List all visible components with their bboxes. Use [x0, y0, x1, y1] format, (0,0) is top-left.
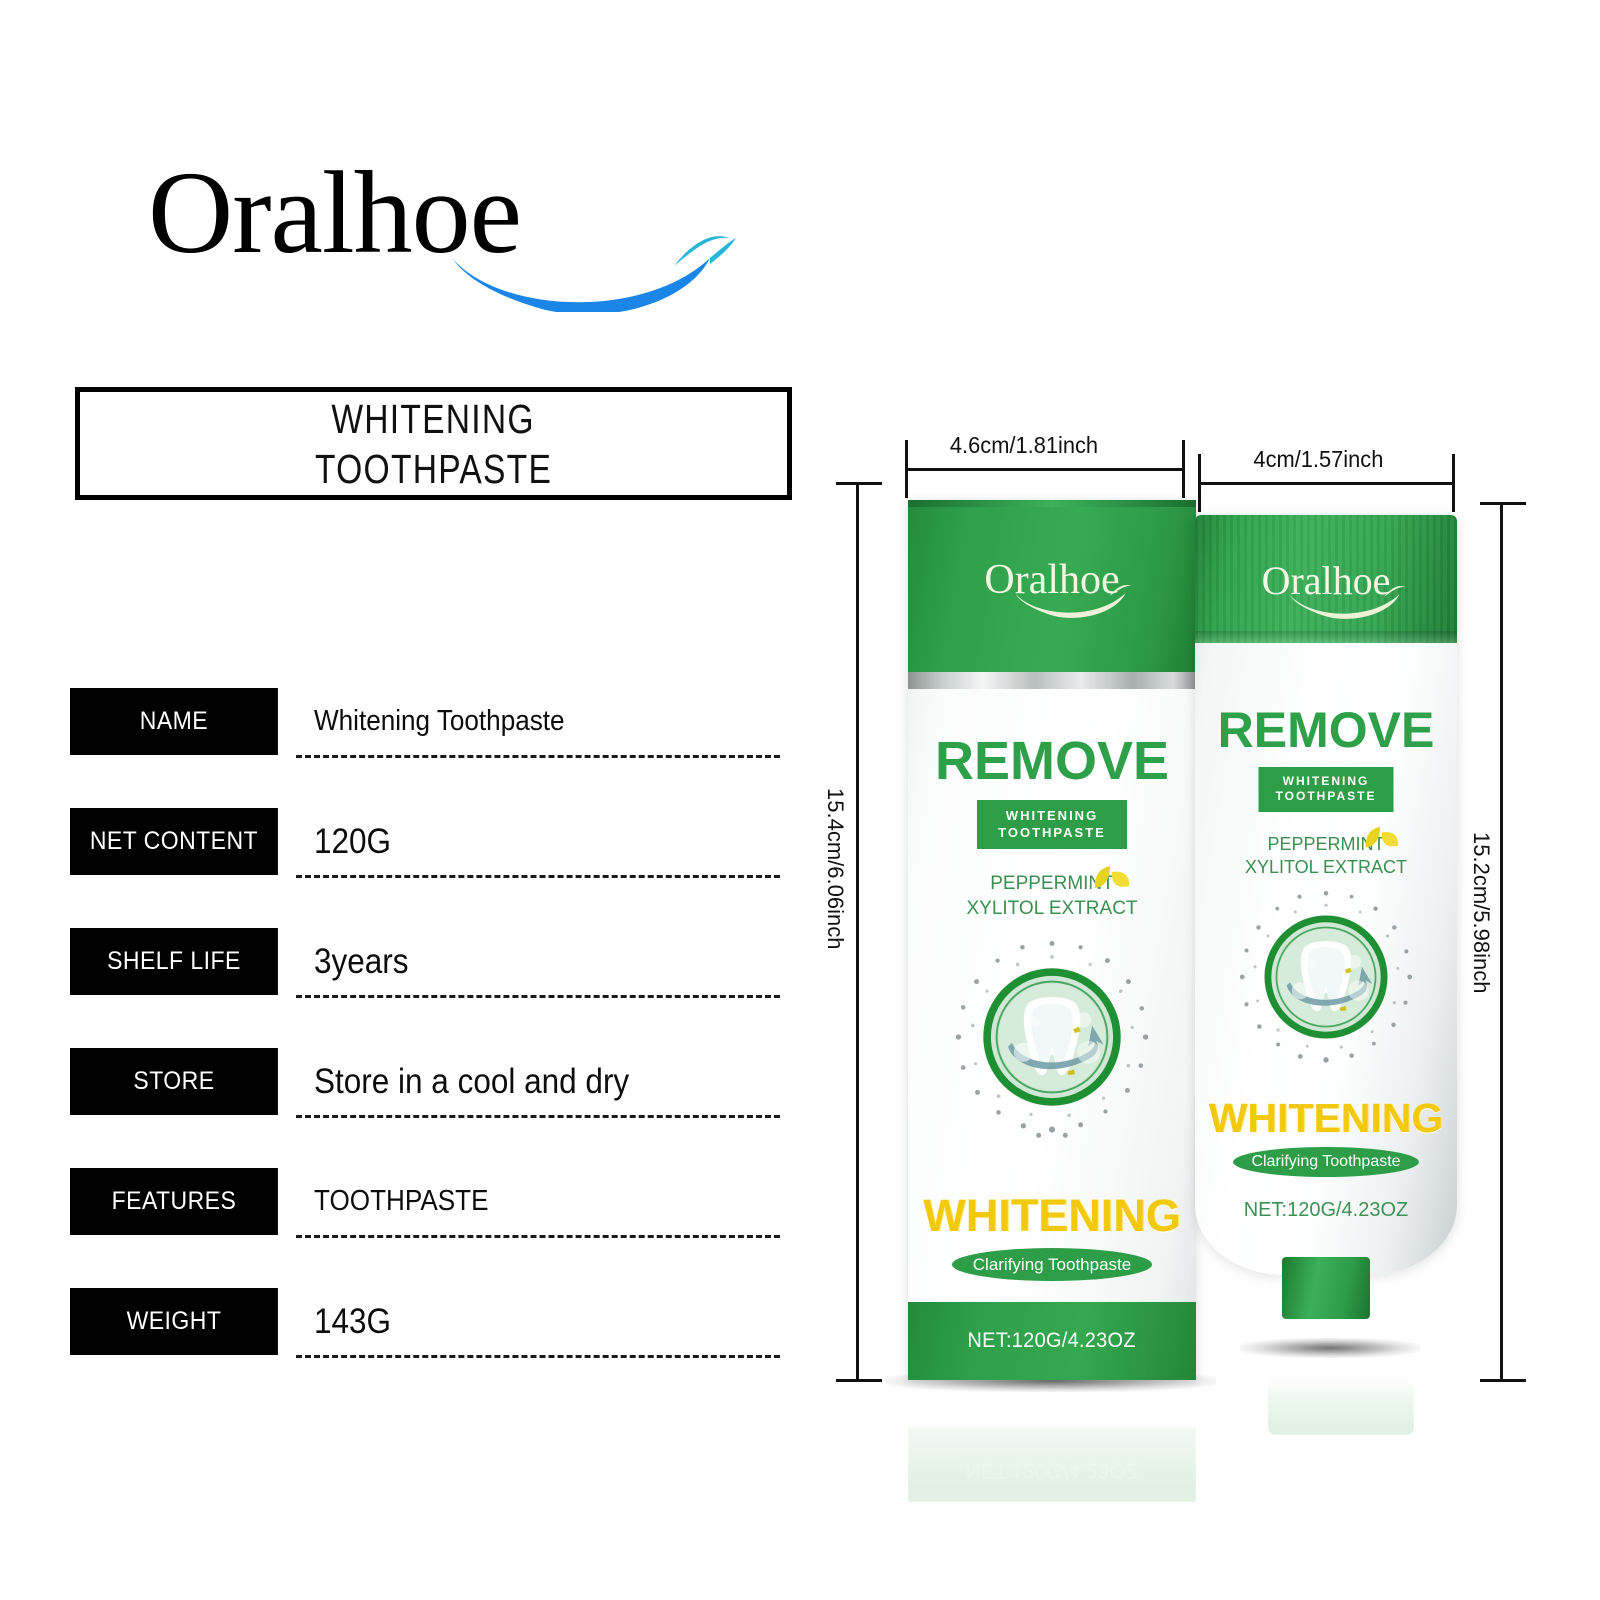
spec-divider — [296, 875, 780, 878]
box-badge: WHITENING TOOTHPASTE — [977, 800, 1127, 849]
spec-label-shelf-life: SHELF LIFE — [70, 928, 278, 995]
tube-headline: REMOVE — [1195, 701, 1457, 759]
spec-value-weight: 143G — [314, 1288, 733, 1355]
box-net-text: NET:120G/4.23OZ — [968, 1329, 1136, 1353]
box-sub-line1: PEPPERMINT — [908, 872, 1196, 897]
spec-label-net-content: NET CONTENT — [70, 808, 278, 875]
leaf-icon — [1090, 862, 1130, 896]
tube-sub-line1: PEPPERMINT — [1195, 833, 1457, 856]
spec-value-features: TOOTHPASTE — [314, 1168, 733, 1235]
box-logo-swoosh-icon — [1014, 574, 1134, 618]
box-sub-lines: PEPPERMINT XYLITOL EXTRACT — [908, 872, 1196, 921]
brand-logo: Oralhoe — [148, 150, 748, 310]
spec-divider — [296, 995, 780, 998]
spec-label-store: STORE — [70, 1048, 278, 1115]
box-reflection-net: NET:120G/4.23OZ — [908, 1382, 1196, 1502]
box-clarifying-badge: Clarifying Toothpaste — [952, 1248, 1152, 1281]
box-width-dim-tick-right — [1182, 440, 1185, 498]
spec-divider — [296, 1115, 780, 1118]
box-width-dim-tick-left — [905, 440, 908, 498]
box-tooth-emblem-icon — [947, 932, 1157, 1142]
product-tube: Oralhoe REMOVE WHITENING TOOTHPASTE PEPP… — [1195, 515, 1457, 1350]
table-row: STORE Store in a cool and dry — [70, 1048, 780, 1168]
box-width-dim-bar — [905, 468, 1185, 471]
box-height-dim-tick-top — [836, 482, 882, 485]
tube-logo-swoosh-icon — [1288, 575, 1408, 619]
product-box: Oralhoe REMOVE WHITENING TOOTHPASTE PEPP… — [908, 500, 1196, 1380]
box-width-dim-label: 4.6cm/1.81inch — [950, 432, 1098, 459]
tube-height-dim-bar — [1500, 502, 1503, 1382]
product-title-box: WHITENING TOOTHPASTE — [75, 387, 792, 500]
tube-net-text: NET:120G/4.23OZ — [1244, 1199, 1409, 1221]
box-badge-line1: WHITENING — [977, 808, 1127, 825]
spec-value-name: Whitening Toothpaste — [314, 688, 733, 755]
tube-width-dim-tick-left — [1198, 454, 1201, 512]
box-badge-line2: TOOTHPASTE — [977, 825, 1127, 842]
tube-height-dim-tick-top — [1480, 502, 1526, 505]
brand-logo-text: Oralhoe — [148, 150, 748, 275]
box-clarifying-text: Clarifying Toothpaste — [973, 1255, 1131, 1275]
tube-whitening-text: WHITENING — [1195, 1095, 1457, 1142]
tube-net-text-wrap: NET:120G/4.23OZ — [1195, 1197, 1457, 1223]
box-height-dim-label: 15.4cm/6.06inch — [822, 788, 848, 949]
tube-cap-flange — [1253, 1307, 1399, 1353]
tube-height-dim-tick-bottom — [1480, 1379, 1526, 1382]
tube-tooth-emblem-icon — [1232, 883, 1420, 1071]
leaf-icon — [1361, 823, 1399, 855]
table-row: NET CONTENT 120G — [70, 808, 780, 928]
tube-clarifying-badge: Clarifying Toothpaste — [1233, 1147, 1419, 1177]
tube-height-dim-label: 15.2cm/5.98inch — [1468, 832, 1494, 993]
tube-clarifying-text: Clarifying Toothpaste — [1251, 1153, 1400, 1171]
spec-value-shelf-life: 3years — [314, 928, 733, 995]
tube-badge-line1: WHITENING — [1259, 774, 1394, 789]
product-title-line2: TOOTHPASTE — [315, 444, 552, 494]
tube-reflection — [1268, 1355, 1414, 1435]
tube-cap-edge — [1195, 631, 1457, 643]
product-title-line1: WHITENING — [332, 394, 535, 444]
box-sub-line2: XYLITOL EXTRACT — [908, 897, 1196, 922]
tube-badge: WHITENING TOOTHPASTE — [1259, 767, 1394, 812]
tube-badge-line2: TOOTHPASTE — [1259, 789, 1394, 804]
tube-body: Oralhoe REMOVE WHITENING TOOTHPASTE PEPP… — [1195, 515, 1457, 1275]
spec-divider — [296, 755, 780, 758]
product-stage: 4.6cm/1.81inch 4cm/1.57inch 15.4cm/6.06i… — [800, 420, 1600, 1480]
spec-label-features: FEATURES — [70, 1168, 278, 1235]
tube-width-dim-label: 4cm/1.57inch — [1253, 446, 1383, 473]
spec-label-name: NAME — [70, 688, 278, 755]
spec-table: NAME Whitening Toothpaste NET CONTENT 12… — [70, 688, 780, 1408]
box-top-edge — [908, 500, 1196, 507]
box-height-dim-bar — [856, 482, 859, 1382]
spec-divider — [296, 1235, 780, 1238]
table-row: NAME Whitening Toothpaste — [70, 688, 780, 808]
box-height-dim-tick-bottom — [836, 1379, 882, 1382]
spec-value-store: Store in a cool and dry — [314, 1048, 733, 1115]
box-whitening-text: WHITENING — [908, 1190, 1196, 1242]
tube-width-dim-bar — [1198, 482, 1455, 485]
table-row: FEATURES TOOTHPASTE — [70, 1168, 780, 1288]
spec-value-net-content: 120G — [314, 808, 733, 875]
tube-sub-lines: PEPPERMINT XYLITOL EXTRACT — [1195, 833, 1457, 880]
table-row: WEIGHT 143G — [70, 1288, 780, 1408]
table-row: SHELF LIFE 3years — [70, 928, 780, 1048]
spec-label-weight: WEIGHT — [70, 1288, 278, 1355]
box-silver-band — [908, 672, 1196, 689]
tube-width-dim-tick-right — [1452, 454, 1455, 512]
box-reflection-net-text: NET:120G/4.23OZ — [966, 1458, 1139, 1482]
tube-sub-line2: XYLITOL EXTRACT — [1195, 856, 1457, 879]
box-net-footer: NET:120G/4.23OZ — [908, 1302, 1196, 1380]
spec-divider — [296, 1355, 780, 1358]
box-headline: REMOVE — [908, 730, 1196, 792]
